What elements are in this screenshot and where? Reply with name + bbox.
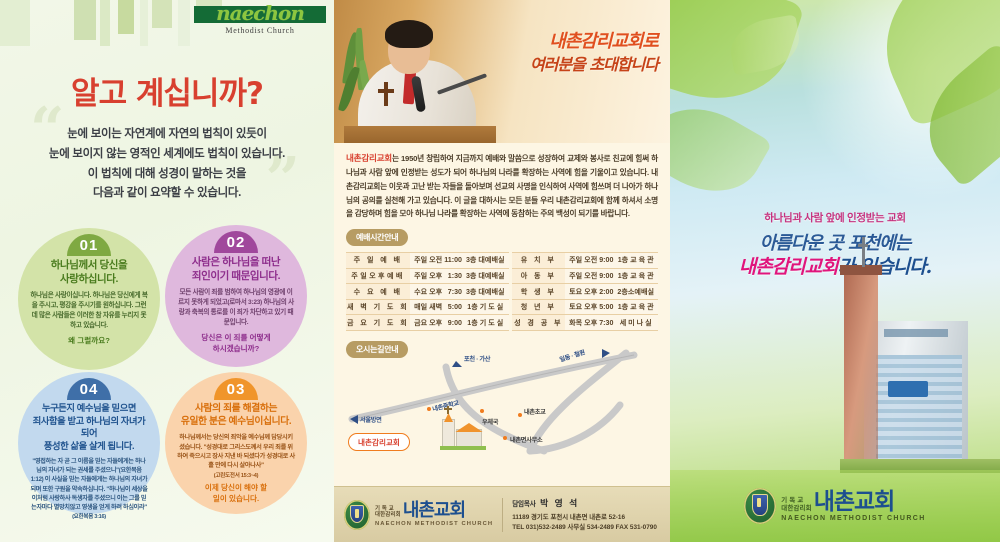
card-body: "영접하는 자 곧 그 이름을 믿는 자들에게는 하나님의 자녀가 되는 권세를… <box>30 457 148 512</box>
church-building-icon <box>440 413 486 455</box>
left-panel: naechon Methodist Church 알고 계십니까? “ ” 눈에… <box>0 0 334 542</box>
brand-tiny-1: 기 독 교 <box>781 497 811 505</box>
service-hour: 7:30 <box>598 315 616 331</box>
brand-tiny-2: 대한감리회 <box>781 505 811 513</box>
table-row: 주일오후예배 주일 오후 1:30 3층 대예배실 아 동 부 주일 오전 9:… <box>346 268 658 284</box>
service-time: 화목 오후 <box>565 315 598 331</box>
service-hour: 9:00 <box>598 253 616 269</box>
pastor-name: 박 영 석 <box>540 498 579 508</box>
pastor-photo <box>344 8 494 143</box>
brand-name-en: NAECHON METHODIST CHURCH <box>375 521 493 527</box>
footer-brand: 기 독 교 대한감리회 내촌교회 NAECHON METHODIST CHURC… <box>781 491 925 522</box>
service-time: 주일 오전 <box>565 253 598 269</box>
service-place: 3층 대예배실 <box>465 268 509 284</box>
card-title: 사람은 하나님을 떠난 죄인이기 때문입니다. <box>177 255 295 283</box>
building-sign <box>888 381 928 397</box>
footer-contact: 담임목사 박 영 석 11189 경기도 포천시 내촌면 내촌로 52-16 T… <box>512 496 657 533</box>
service-hour: 7:30 <box>443 284 465 300</box>
map-label-highschool: 내촌초교 <box>524 407 546 416</box>
service-time: 주일 오전 <box>410 253 443 269</box>
card-question: 왜 그럴까요? <box>30 336 148 347</box>
map-label-office: 내촌면사무소 <box>510 435 542 444</box>
church-logo: naechon Methodist Church <box>194 6 326 35</box>
right-footer: 기 독 교 대한감리회 내촌교회 NAECHON METHODIST CHURC… <box>670 470 1000 542</box>
intro-church-name: 내촌감리교회 <box>346 153 392 163</box>
hero-line-1: 내촌감리교회로 <box>530 30 658 54</box>
service-time: 주일 오후 <box>410 268 443 284</box>
service-name: 학 생 부 <box>512 284 565 300</box>
location-map[interactable]: 포천 · 가산 일동 · 철원 서울방면 내촌중학교 우체국 내촌초교 내촌면사… <box>334 339 670 459</box>
service-name: 수 요 예 배 <box>346 284 410 300</box>
brand-name-ko: 내촌교회 <box>403 501 465 519</box>
phone-line: TEL 031)532-2489 사무실 534-2489 FAX 531-07… <box>512 523 657 533</box>
hero-line-2: 여러분을 초대합니다 <box>530 54 658 76</box>
service-place: 1층 교 육 관 <box>616 253 658 269</box>
service-hour: 1:30 <box>443 268 465 284</box>
service-time: 토요 오후 <box>565 299 598 315</box>
service-name: 성 경 공 부 <box>512 315 565 331</box>
table-row: 금 요 기 도 회 금요 오후 9:00 1층 기 도 실 성 경 공 부 화목… <box>346 315 658 331</box>
service-place: 세 미 나 실 <box>616 315 658 331</box>
service-name: 금 요 기 도 회 <box>346 315 410 331</box>
card-question: 당신은 이 죄를 어떻게 하시겠습니까? <box>177 333 295 354</box>
map-dot <box>518 413 522 417</box>
service-name: 유 치 부 <box>512 253 565 269</box>
card-reference: (고린도전서 15:3~4) <box>177 472 295 480</box>
brand-name-ko: 내촌교회 <box>814 490 895 513</box>
map-label-north: 포천 · 가산 <box>464 354 490 363</box>
table-row: 수 요 예 배 수요 오후 7:30 3층 대예배실 학 생 부 토요 오후 2… <box>346 284 658 300</box>
middle-footer: 기 독 교 대한감리회 내촌교회 NAECHON METHODIST CHURC… <box>334 486 670 542</box>
service-place: 1층 기 도 실 <box>465 315 509 331</box>
service-hour: 5:00 <box>598 299 616 315</box>
card-number: 03 <box>214 378 258 400</box>
middle-body: 내촌감리교회는 1950년 창립하여 지금까지 예배와 말씀으로 성장하여 교제… <box>334 143 670 542</box>
service-hour: 9:00 <box>598 268 616 284</box>
intro-text: 는 1950년 창립하여 지금까지 예배와 말씀으로 성장하여 교제와 봉사로 … <box>346 154 658 218</box>
service-place: 3층 대예배실 <box>465 253 509 269</box>
footer-divider <box>502 498 503 532</box>
right-subtitle: 하나님과 사람 앞에 인정받는 교회 <box>670 210 1000 225</box>
service-hour: 11:00 <box>443 253 465 269</box>
service-name: 주일오후예배 <box>346 268 410 284</box>
pastor-role: 담임목사 <box>512 501 535 508</box>
service-time: 금요 오후 <box>410 315 443 331</box>
card-title: 사람의 죄를 해결하는 유일한 분은 예수님이십니다. <box>177 402 295 428</box>
gospel-card-03: 03 사람의 죄를 해결하는 유일한 분은 예수님이십니다. 하나님께서는 당신… <box>165 372 307 514</box>
pulpit <box>344 126 496 143</box>
service-name: 주 일 예 배 <box>346 253 410 269</box>
denomination-crest-icon <box>744 488 776 524</box>
footer-brand: 기 독 교 대한감리회 내촌교회 NAECHON METHODIST CHURC… <box>375 502 493 527</box>
card-reference: (요한복음 3:16) <box>30 513 148 521</box>
worship-schedule-table: 주 일 예 배 주일 오전 11:00 3층 대예배실 유 치 부 주일 오전 … <box>346 252 658 331</box>
service-name: 청 년 부 <box>512 299 565 315</box>
map-label-west: 서울방면 <box>360 415 382 424</box>
card-number: 04 <box>67 378 111 400</box>
brand-name-en: NAECHON METHODIST CHURCH <box>781 515 925 522</box>
map-church-callout: 내촌감리교회 <box>348 433 410 451</box>
brand-tiny-2: 대한감리회 <box>375 512 401 519</box>
card-body: 모든 사람이 죄를 범하여 하나님의 영광에 이르지 못하게 되었고(로마서 3… <box>177 288 295 328</box>
card-title: 하나님께서 당신을 사랑하십니다. <box>30 258 148 286</box>
building-tower <box>844 273 878 471</box>
table-row: 주 일 예 배 주일 오전 11:00 3층 대예배실 유 치 부 주일 오전 … <box>346 253 658 269</box>
card-number: 02 <box>214 231 258 253</box>
gospel-card-01: 01 하나님께서 당신을 사랑하십니다. 하나님은 사랑이십니다. 하나님은 당… <box>18 228 160 370</box>
service-name: 아 동 부 <box>512 268 565 284</box>
card-body: 하나님은 사랑이십니다. 하나님은 당신에게 복을 주시고, 평강을 주시기를 … <box>30 291 148 331</box>
building-window <box>884 329 948 337</box>
card-title: 누구든지 예수님을 믿으면 죄사함을 받고 하나님의 자녀가 되어 풍성한 삶을… <box>30 402 148 452</box>
table-row: 새 벽 기 도 회 매일 새벽 5:00 1층 기 도 실 청 년 부 토요 오… <box>346 299 658 315</box>
intro-paragraph: 내촌감리교회는 1950년 창립하여 지금까지 예배와 말씀으로 성장하여 교제… <box>334 143 670 221</box>
pastor-hair <box>385 20 433 48</box>
map-dot <box>503 436 507 440</box>
right-headline-line-1: 아름다운 곳 포천에는 <box>670 232 1000 255</box>
right-headline-church: 내촌감리교회 <box>739 256 838 278</box>
address-line: 11189 경기도 포천시 내촌면 내촌로 52-16 <box>512 513 657 523</box>
brochure-page: naechon Methodist Church 알고 계십니까? “ ” 눈에… <box>0 0 1000 542</box>
leaf-decoration <box>670 88 773 212</box>
service-place: 2층소예배실 <box>616 284 658 300</box>
middle-panel: 내촌감리교회로 여러분을 초대합니다 내촌감리교회는 1950년 창립하여 지금… <box>334 0 670 542</box>
service-hour: 9:00 <box>443 315 465 331</box>
service-name: 새 벽 기 도 회 <box>346 299 410 315</box>
church-building-photo <box>840 255 1000 470</box>
service-time: 토요 오후 <box>565 284 598 300</box>
cross-icon <box>858 237 868 267</box>
card-number: 01 <box>67 234 111 256</box>
service-place: 1층 교 육 관 <box>616 268 658 284</box>
denomination-crest-icon <box>344 500 370 530</box>
logo-subtitle: Methodist Church <box>194 26 326 35</box>
hero-invitation-text: 내촌감리교회로 여러분을 초대합니다 <box>530 30 658 76</box>
card-body: 하나님께서는 당신의 죄악을 예수님께 담당시키셨습니다. "성경대로 그리스도… <box>177 433 295 470</box>
gospel-card-04: 04 누구든지 예수님을 믿으면 죄사함을 받고 하나님의 자녀가 되어 풍성한… <box>18 372 160 514</box>
cross-icon <box>378 82 394 106</box>
map-dot <box>427 407 431 411</box>
service-time: 주일 오전 <box>565 268 598 284</box>
lead-paragraph: 눈에 보이는 자연계에 자연의 법칙이 있듯이 눈에 보이지 않는 영적인 세계… <box>0 125 334 204</box>
service-time: 매일 새벽 <box>410 299 443 315</box>
service-place: 1층 기 도 실 <box>465 299 509 315</box>
card-question: 이제 당신이 해야 할 일이 있습니다. <box>177 483 295 504</box>
pastor-line: 담임목사 박 영 석 <box>512 496 657 511</box>
service-time: 수요 오후 <box>410 284 443 300</box>
right-panel: 하나님과 사람 앞에 인정받는 교회 아름다운 곳 포천에는 내촌감리교회가 있… <box>670 0 1000 542</box>
building-glass-facade <box>876 355 962 461</box>
schedule-section-title: 예배시간안내 <box>346 229 408 246</box>
service-place: 1층 교 육 관 <box>616 299 658 315</box>
logo-script-text: naechon <box>194 1 326 25</box>
service-place: 3층 대예배실 <box>465 284 509 300</box>
gospel-card-02: 02 사람은 하나님을 떠난 죄인이기 때문입니다. 모든 사람이 죄를 범하여… <box>165 225 307 367</box>
hero-banner: 내촌감리교회로 여러분을 초대합니다 <box>334 0 670 143</box>
service-hour: 5:00 <box>443 299 465 315</box>
logo-bar: naechon <box>194 6 326 23</box>
service-hour: 2:00 <box>598 284 616 300</box>
